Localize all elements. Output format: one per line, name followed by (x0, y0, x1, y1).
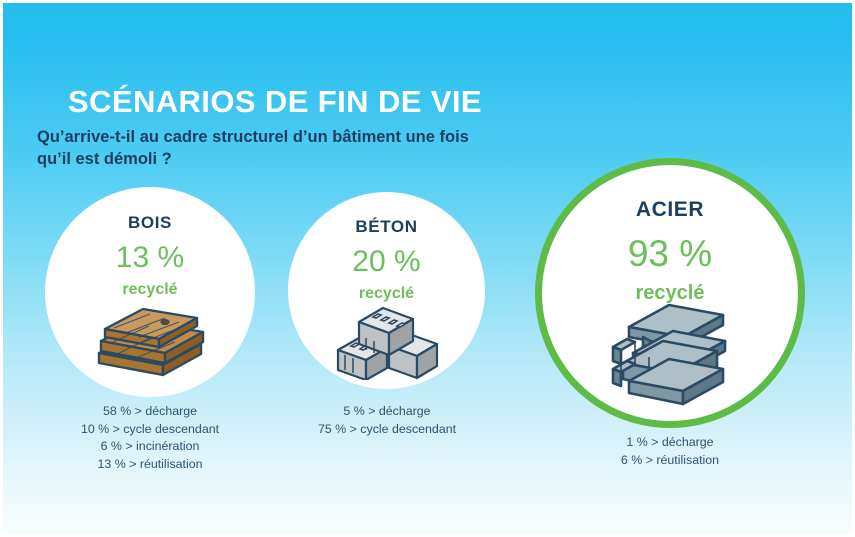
material-circle-acier[interactable]: ACIER 93 % recyclé (535, 158, 805, 428)
material-circle-bois-content: BOIS 13 % recyclé (45, 187, 255, 397)
page-subtitle: Qu’arrive-t-il au cadre structurel d’un … (37, 126, 507, 171)
steel-beams-icon (605, 301, 735, 412)
infographic-canvas: SCÉNARIOS DE FIN DE VIE Qu’arrive-t-il a… (0, 0, 855, 537)
fate-item: 10 % > cycle descendant (50, 421, 250, 439)
material-circle-beton[interactable]: BÉTON 20 % recyclé (288, 192, 485, 389)
material-name-bois: BOIS (128, 214, 172, 231)
material-percent-acier: 93 % (628, 235, 712, 272)
material-name-beton: BÉTON (355, 218, 417, 235)
fate-item: 58 % > décharge (50, 403, 250, 421)
fate-item: 6 % > incinération (50, 438, 250, 456)
material-recycled-label-acier: recyclé (636, 283, 705, 303)
material-name-acier: ACIER (636, 199, 704, 220)
fate-item: 13 % > réutilisation (50, 456, 250, 474)
material-recycled-label-bois: recyclé (122, 282, 177, 298)
page-title: SCÉNARIOS DE FIN DE VIE (68, 84, 482, 120)
fate-item: 6 % > réutilisation (570, 452, 770, 470)
material-percent-beton: 20 % (352, 247, 420, 277)
concrete-blocks-icon (333, 300, 441, 385)
fate-item: 1 % > décharge (570, 434, 770, 452)
wood-planks-icon (93, 303, 207, 386)
fate-list-beton: 5 % > décharge 75 % > cycle descendant (287, 403, 487, 438)
fate-item: 75 % > cycle descendant (287, 421, 487, 439)
fate-list-acier: 1 % > décharge 6 % > réutilisation (570, 434, 770, 469)
material-circle-beton-content: BÉTON 20 % recyclé (288, 192, 485, 389)
material-circle-bois[interactable]: BOIS 13 % recyclé (45, 187, 255, 397)
fate-list-bois: 58 % > décharge 10 % > cycle descendant … (50, 403, 250, 473)
material-percent-bois: 13 % (116, 243, 184, 273)
fate-item: 5 % > décharge (287, 403, 487, 421)
material-circle-acier-content: ACIER 93 % recyclé (542, 165, 798, 421)
